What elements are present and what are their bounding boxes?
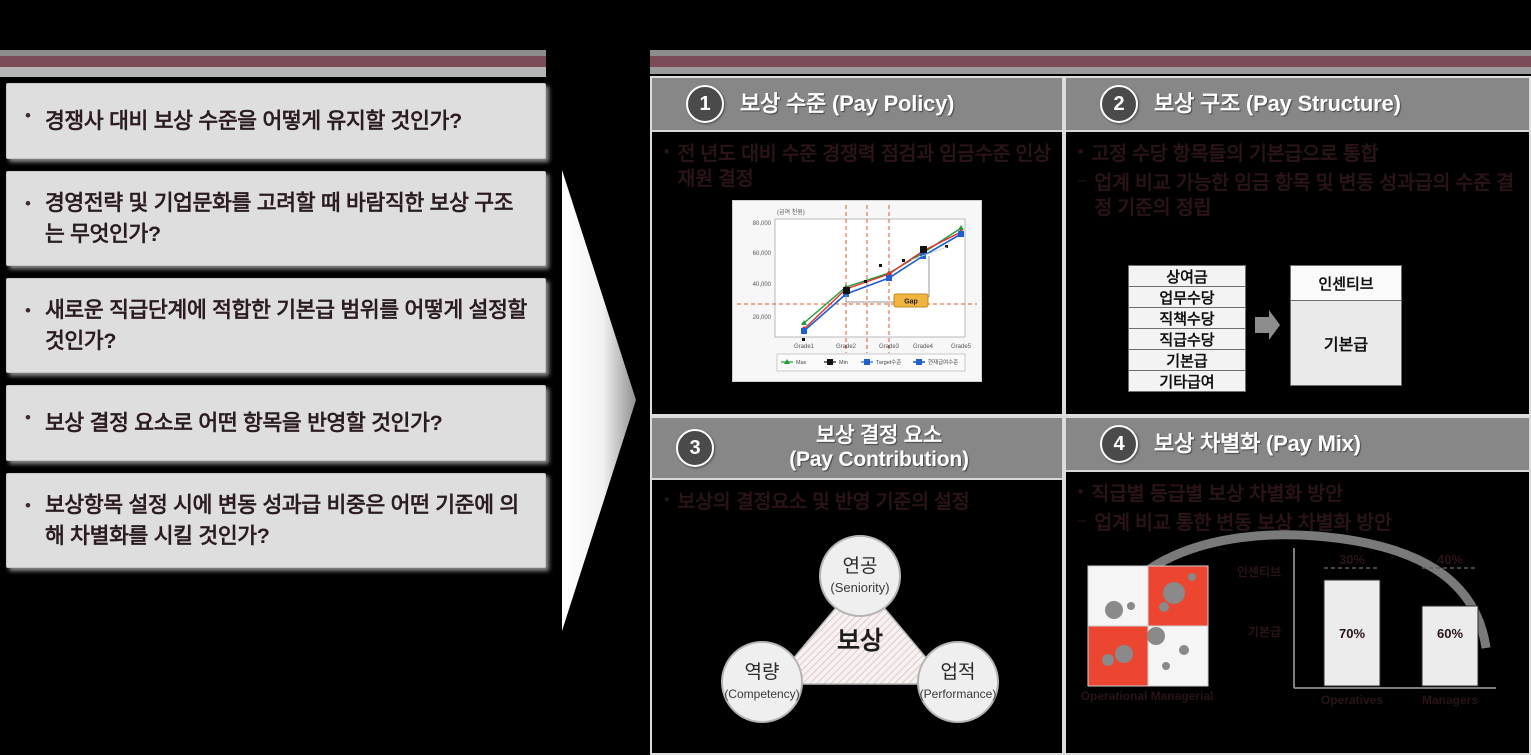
pay-policy-line-chart: 80,000 60,000 40,000 20,000 (급여 천원) (732, 200, 982, 382)
quadrant-body: ▪ 고정 수당 항목들의 기본급으로 통합 – 업계 비교 가능한 임금 항목 … (1066, 132, 1529, 414)
slide-canvas: • 경쟁사 대비 보상 수준을 어떻게 유지할 것인가? • 경영전략 및 기업… (0, 0, 1531, 755)
list-item: ▪ 직급별 등급별 보상 차별화 방안 (1078, 482, 1519, 507)
quadrant-title: 보상 결정 요소 (Pay Contribution) (730, 424, 1062, 472)
quadrant-body: ▪ 보상의 결정요소 및 반영 기준의 설정 (652, 480, 1062, 753)
quadrant-pay-contribution[interactable]: 3 보상 결정 요소 (Pay Contribution) ▪ 보상의 결정요소… (650, 416, 1064, 755)
svg-text:(Performance): (Performance) (920, 687, 997, 701)
svg-text:20,000: 20,000 (753, 315, 772, 321)
quadrant-pay-mix[interactable]: 4 보상 차별화 (Pay Mix) ▪ 직급별 등급별 보상 차별화 방안 –… (1064, 416, 1531, 755)
question-text: 경쟁사 대비 보상 수준을 어떻게 유지할 것인가? (45, 106, 462, 137)
list-item[interactable]: • 경영전략 및 기업문화를 고려할 때 바람직한 보상 구조는 무엇인가? (6, 171, 546, 266)
question-list: • 경쟁사 대비 보상 수준을 어떻게 유지할 것인가? • 경영전략 및 기업… (6, 83, 546, 580)
bullet-icon: • (25, 195, 31, 212)
bullet-text: 직급별 등급별 보상 차별화 방안 (1091, 482, 1343, 507)
right-arrow-icon (560, 168, 638, 633)
right-header-accent-bar (650, 56, 1531, 67)
bullet-list: ▪ 전 년도 대비 수준 경쟁력 점검과 임금수준 인상 재원 결정 (652, 132, 1062, 200)
svg-text:Grade5: Grade5 (951, 344, 972, 350)
quadrant-title-line2: (Pay Contribution) (730, 448, 1028, 472)
bullet-text: 전 년도 대비 수준 경쟁력 점검과 임금수준 인상 재원 결정 (677, 142, 1052, 192)
svg-text:연공: 연공 (843, 555, 878, 577)
pay-components-before-table: 상여금 업무수당 직책수당 직급수당 기본급 기타급여 (1128, 265, 1246, 392)
list-item[interactable]: • 경쟁사 대비 보상 수준을 어떻게 유지할 것인가? (6, 83, 546, 159)
quadrant-pay-structure[interactable]: 2 보상 구조 (Pay Structure) ▪ 고정 수당 항목들의 기본급… (1064, 76, 1531, 416)
table-row: 인센티브 (1291, 266, 1401, 301)
list-item[interactable]: • 보상 결정 요소로 어떤 항목을 반영할 것인가? (6, 385, 546, 461)
right-framework-panel: 1 보상 수준 (Pay Policy) ▪ 전 년도 대비 수준 경쟁력 점검… (650, 50, 1531, 755)
svg-text:Operational: Operational (1081, 689, 1148, 703)
quadrant-number-badge: 2 (1100, 85, 1138, 123)
svg-text:현재급여수준: 현재급여수준 (928, 358, 958, 366)
quadrant-title: 보상 구조 (Pay Structure) (1154, 91, 1401, 116)
svg-text:Gap: Gap (904, 299, 918, 306)
left-header-grey-bottom (0, 67, 546, 77)
bullet-icon: – (1078, 171, 1086, 191)
svg-text:60,000: 60,000 (753, 251, 772, 257)
svg-text:60%: 60% (1437, 626, 1463, 641)
list-item[interactable]: • 새로운 직급단계에 적합한 기본급 범위를 어떻게 설정할 것인가? (6, 278, 546, 373)
bullet-icon: • (25, 497, 31, 514)
list-item: ▪ 보상의 결정요소 및 반영 기준의 설정 (664, 490, 1052, 515)
svg-text:(Seniority): (Seniority) (830, 580, 889, 595)
list-item[interactable]: • 보상항목 설정 시에 변동 성과급 비중은 어떤 기준에 의해 차별화를 시… (6, 473, 546, 568)
table-row: 기본급 (1129, 350, 1245, 371)
pay-contribution-triangle: 연공 (Seniority) 역량 (Competency) 업적 (Perfo… (700, 524, 1020, 724)
svg-text:40,000: 40,000 (753, 282, 772, 288)
svg-text:40%: 40% (1437, 552, 1463, 567)
quadrant-header: 2 보상 구조 (Pay Structure) (1066, 78, 1529, 132)
quadrant-title: 보상 차별화 (Pay Mix) (1154, 431, 1361, 456)
framework-quadrant-grid: 1 보상 수준 (Pay Policy) ▪ 전 년도 대비 수준 경쟁력 점검… (650, 76, 1531, 755)
quadrant-title-line1: 보상 결정 요소 (730, 424, 1028, 448)
svg-text:Operatives: Operatives (1321, 693, 1383, 707)
bullet-icon: • (25, 107, 31, 124)
quadrant-title: 보상 수준 (Pay Policy) (740, 91, 954, 116)
pay-mix-bars: 인센티브 기본급 30% 40% 70% 60% Operati (1237, 548, 1496, 707)
svg-text:Grade2: Grade2 (836, 344, 857, 350)
pay-components-after-table: 인센티브 기본급 (1290, 265, 1402, 386)
svg-text:Managers: Managers (1422, 693, 1478, 707)
question-text: 경영전략 및 기업문화를 고려할 때 바람직한 보상 구조는 무엇인가? (45, 188, 531, 249)
bullet-icon: • (25, 302, 31, 319)
question-text: 보상 결정 요소로 어떤 항목을 반영할 것인가? (45, 408, 443, 439)
svg-text:70%: 70% (1339, 626, 1365, 641)
pay-mix-matrix: Operational Managerial (1081, 566, 1214, 703)
bullet-icon: ▪ (664, 142, 669, 162)
svg-text:Grade1: Grade1 (794, 344, 815, 350)
question-text: 보상항목 설정 시에 변동 성과급 비중은 어떤 기준에 의해 차별화를 시킬 … (45, 490, 531, 551)
bullet-icon: ▪ (1078, 142, 1083, 162)
svg-text:Max: Max (796, 360, 807, 366)
svg-text:(Competency): (Competency) (724, 687, 799, 701)
list-item: – 업계 비교 가능한 임금 항목 및 변동 성과급의 수준 결정 기준의 정립 (1078, 171, 1519, 221)
table-row: 기본급 (1291, 301, 1401, 385)
quadrant-pay-policy[interactable]: 1 보상 수준 (Pay Policy) ▪ 전 년도 대비 수준 경쟁력 점검… (650, 76, 1064, 416)
quadrant-body: ▪ 직급별 등급별 보상 차별화 방안 – 업계 비교 통한 변동 보상 차별화… (1066, 472, 1529, 753)
svg-text:Target수준: Target수준 (876, 359, 901, 366)
quadrant-header: 3 보상 결정 요소 (Pay Contribution) (652, 418, 1062, 480)
bullet-list: ▪ 보상의 결정요소 및 반영 기준의 설정 (652, 480, 1062, 523)
svg-text:30%: 30% (1339, 552, 1365, 567)
svg-text:역량: 역량 (745, 661, 780, 683)
svg-text:인센티브: 인센티브 (1237, 564, 1281, 579)
svg-text:기본급: 기본급 (1248, 624, 1281, 639)
svg-text:Managerial: Managerial (1151, 689, 1214, 703)
bullet-text: 업계 비교 가능한 임금 항목 및 변동 성과급의 수준 결정 기준의 정립 (1094, 171, 1519, 221)
bullet-text: 보상의 결정요소 및 반영 기준의 설정 (677, 490, 969, 515)
bullet-icon: ▪ (664, 490, 669, 510)
svg-text:보상: 보상 (837, 627, 883, 655)
conversion-arrow-icon (1246, 265, 1290, 385)
svg-text:(급여 천원): (급여 천원) (777, 208, 805, 216)
left-question-panel: • 경쟁사 대비 보상 수준을 어떻게 유지할 것인가? • 경영전략 및 기업… (0, 50, 546, 755)
svg-text:80,000: 80,000 (753, 221, 772, 227)
quadrant-number-badge: 4 (1100, 425, 1138, 463)
bullet-icon: • (25, 409, 31, 426)
quadrant-body: ▪ 전 년도 대비 수준 경쟁력 점검과 임금수준 인상 재원 결정 80,00… (652, 132, 1062, 414)
list-item: ▪ 전 년도 대비 수준 경쟁력 점검과 임금수준 인상 재원 결정 (664, 142, 1052, 192)
table-row: 기타급여 (1129, 371, 1245, 391)
table-row: 상여금 (1129, 266, 1245, 287)
bullet-icon: ▪ (1078, 482, 1083, 502)
quadrant-number-badge: 3 (676, 429, 714, 467)
table-row: 직급수당 (1129, 329, 1245, 350)
quadrant-header: 4 보상 차별화 (Pay Mix) (1066, 418, 1529, 472)
list-item: ▪ 고정 수당 항목들의 기본급으로 통합 (1078, 142, 1519, 167)
svg-text:Min: Min (839, 360, 848, 366)
table-row: 직책수당 (1129, 308, 1245, 329)
svg-text:Grade4: Grade4 (913, 344, 934, 350)
left-header-accent-bar (0, 56, 546, 67)
svg-text:Grade3: Grade3 (879, 344, 900, 350)
bullet-text: 고정 수당 항목들의 기본급으로 통합 (1091, 142, 1378, 167)
bullet-list: ▪ 고정 수당 항목들의 기본급으로 통합 – 업계 비교 가능한 임금 항목 … (1066, 132, 1529, 229)
quadrant-header: 1 보상 수준 (Pay Policy) (652, 78, 1062, 132)
question-text: 새로운 직급단계에 적합한 기본급 범위를 어떻게 설정할 것인가? (45, 295, 531, 356)
svg-text:업적: 업적 (941, 661, 976, 683)
pay-structure-conversion: 상여금 업무수당 직책수당 직급수당 기본급 기타급여 (1128, 265, 1478, 395)
pay-mix-diagrams: Operational Managerial 인센티브 기본급 (1066, 518, 1529, 743)
right-header-grey-bottom (650, 67, 1531, 74)
table-row: 업무수당 (1129, 287, 1245, 308)
quadrant-number-badge: 1 (686, 85, 724, 123)
